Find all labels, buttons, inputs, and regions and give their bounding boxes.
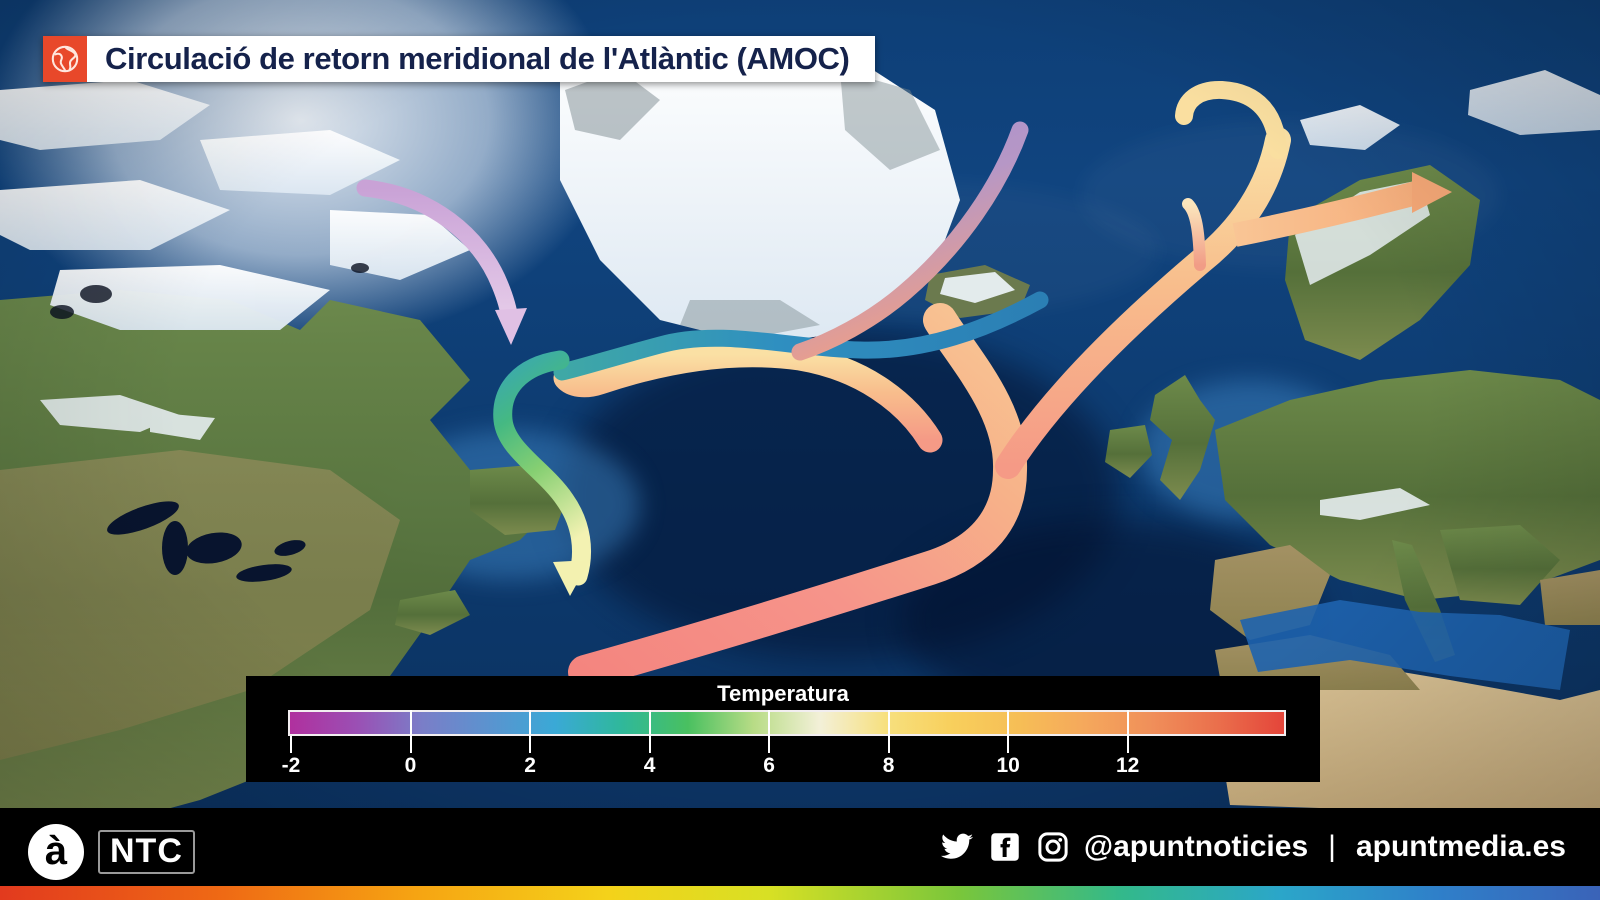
temperature-legend-panel: Temperatura -2024681012 xyxy=(246,676,1320,782)
globe-icon-svg xyxy=(50,44,80,74)
social-handle[interactable]: @apuntnoticies xyxy=(1084,830,1308,864)
colorbar-wrap: -2024681012 xyxy=(288,710,1286,736)
colorbar-tick-label: 6 xyxy=(763,754,775,778)
title-bar: Circulació de retorn meridional de l'Atl… xyxy=(43,36,875,82)
twitter-icon[interactable] xyxy=(940,830,974,864)
current-sinking-baffin-arrowhead xyxy=(495,308,527,345)
apunt-logo[interactable]: à xyxy=(28,824,84,880)
colorbar-tick-label: 0 xyxy=(405,754,417,778)
colorbar-tick-mark xyxy=(1127,736,1129,753)
brand-group: à NTC xyxy=(28,824,195,880)
colorbar-tick-mark xyxy=(410,736,412,753)
current-warm-irminger-branch xyxy=(566,355,930,440)
colorbar-tick-label: 2 xyxy=(524,754,536,778)
website-url[interactable]: apuntmedia.es xyxy=(1356,830,1566,864)
colorbar-tick-mark xyxy=(768,736,770,753)
colorbar-tick-mark xyxy=(529,736,531,753)
colorbar-tick-mark xyxy=(1007,736,1009,753)
colorbar-tick-mark xyxy=(649,736,651,753)
colorbar-tick-mark xyxy=(290,736,292,753)
colorbar-separator xyxy=(1127,710,1129,736)
instagram-icon[interactable] xyxy=(1036,830,1070,864)
colorbar-separator xyxy=(888,710,890,736)
colorbar-tick-mark xyxy=(888,736,890,753)
logo-letter: à xyxy=(45,831,67,871)
colorbar-separator xyxy=(649,710,651,736)
current-warm-barents-arrowhead xyxy=(1412,172,1452,213)
colorbar-separator xyxy=(768,710,770,736)
colorbar-tick-label: 10 xyxy=(996,754,1019,778)
colorbar-tick-label: 4 xyxy=(644,754,656,778)
legend-title: Temperatura xyxy=(246,681,1320,707)
social-group: @apuntnoticies | apuntmedia.es xyxy=(940,830,1566,864)
colorbar-tick-label: -2 xyxy=(282,754,301,778)
ntc-label: NTC xyxy=(110,832,183,870)
current-warm-norwegian-hook xyxy=(1184,90,1278,150)
colorbar-separator xyxy=(1007,710,1009,736)
ntc-badge: NTC xyxy=(98,830,195,875)
colorbar-separator xyxy=(529,710,531,736)
current-warm-north-atlantic-drift xyxy=(1008,140,1278,466)
colorbar-gradient xyxy=(288,710,1286,736)
page-title: Circulació de retorn meridional de l'Atl… xyxy=(105,41,849,77)
colorbar-separator xyxy=(410,710,412,736)
footer-separator: | xyxy=(1322,830,1342,864)
rainbow-strip xyxy=(0,886,1600,900)
infographic-root: Circulació de retorn meridional de l'Atl… xyxy=(0,0,1600,900)
colorbar-tick-label: 8 xyxy=(883,754,895,778)
title-box: Circulació de retorn meridional de l'Atl… xyxy=(87,36,875,82)
colorbar-tick-label: 12 xyxy=(1116,754,1139,778)
facebook-icon[interactable] xyxy=(988,830,1022,864)
globe-icon xyxy=(43,36,87,82)
current-sinking-baffin xyxy=(365,188,510,320)
